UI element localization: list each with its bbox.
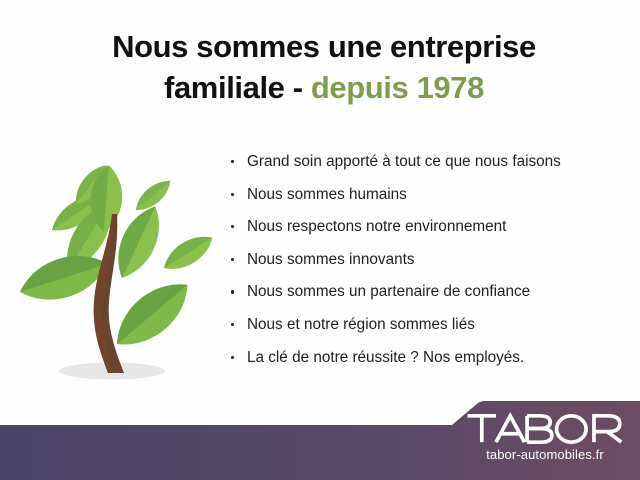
bullet-dot-icon [231,160,234,163]
list-item: Nous sommes humains [230,185,630,204]
list-item-label: Nous sommes innovants [247,251,415,268]
brand-url-label[interactable]: tabor-automobiles.fr [464,447,626,462]
list-item: Grand soin apporté à tout ce que nous fa… [230,152,630,171]
list-item: Nous sommes un partenaire de confiance [230,282,630,301]
bullet-dot-icon [231,258,234,261]
tree-illustration [12,152,217,387]
bullet-dot-icon [231,225,234,228]
headline-line-2: familiale - depuis 1978 [8,67,640,108]
slide-canvas: Nous sommes une entreprise familiale - d… [0,0,640,480]
tabor-wordmark-logo[interactable] [466,412,624,446]
bullet-dot-icon [231,290,234,293]
bullet-dot-icon [231,323,234,326]
footer-band: tabor-automobiles.fr [0,398,640,480]
value-proposition-list: Grand soin apporté à tout ce que nous fa… [230,152,630,380]
bullet-dot-icon [231,193,234,196]
list-item: Nous sommes innovants [230,250,630,269]
list-item-label: Nous sommes humains [247,186,407,203]
page-title: Nous sommes une entreprise familiale - d… [0,26,640,108]
list-item-label: Nous sommes un partenaire de confiance [247,283,530,300]
bullet-dot-icon [231,356,234,359]
brand-logo[interactable]: tabor-automobiles.fr [464,412,626,462]
list-item-label: Nous respectons notre environnement [247,218,506,235]
list-item: La clé de notre réussite ? Nos employés. [230,348,630,367]
list-item: Nous respectons notre environnement [230,217,630,236]
leaf [104,270,200,359]
leaf [158,228,217,277]
headline-line-2-plain: familiale - [164,70,311,105]
headline-line-1: Nous sommes une entreprise [8,26,640,67]
list-item: Nous et notre région sommes liés [230,315,630,334]
list-item-label: La clé de notre réussite ? Nos employés. [247,349,524,366]
list-item-label: Grand soin apporté à tout ce que nous fa… [247,153,561,170]
list-item-label: Nous et notre région sommes liés [247,316,475,333]
headline-accent-since-1978: depuis 1978 [311,70,484,105]
